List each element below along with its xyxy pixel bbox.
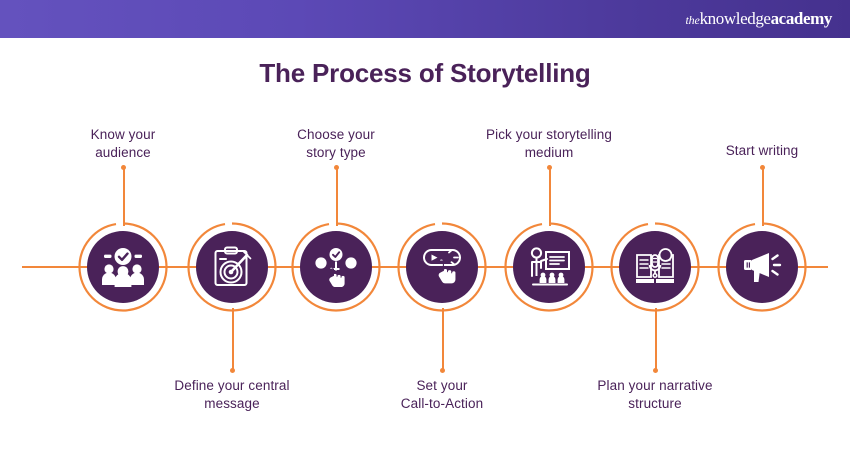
header-bar: theknowledgeacademy [0,0,850,38]
step-disc-1 [87,231,159,303]
infographic-page: theknowledgeacademy The Process of Story… [0,0,850,450]
step-disc-7 [726,231,798,303]
stem-line-2 [232,308,234,370]
step-label-5: Pick your storytelling medium [459,126,639,162]
stem-line-4 [442,308,444,370]
step-node-5[interactable] [504,222,594,312]
step-disc-6 [619,231,691,303]
page-title: The Process of Storytelling [0,58,850,89]
stem-dot-6 [653,368,658,373]
step-node-2[interactable] [187,222,277,312]
step-disc-3 [300,231,372,303]
stem-line-5 [549,168,551,226]
stem-dot-4 [440,368,445,373]
step-label-4-line2: Call-to-Action [362,395,522,413]
step-label-1-line1: Know your [43,126,203,144]
step-label-6-line1: Plan your narrative [570,377,740,395]
stem-dot-2 [230,368,235,373]
step-node-6[interactable] [610,222,700,312]
audience-check-icon [100,247,146,287]
clipboard-target-icon [212,246,252,288]
megaphone-icon [741,250,783,284]
step-label-2-line2: message [147,395,317,413]
stem-line-3 [336,168,338,226]
step-label-7: Start writing [686,142,838,160]
book-microphone-icon [634,247,676,287]
stem-line-7 [762,168,764,226]
step-node-3[interactable] [291,222,381,312]
step-node-4[interactable] [397,222,487,312]
step-disc-2 [196,231,268,303]
step-disc-4 [406,231,478,303]
brand-logo: theknowledgeacademy [686,10,832,28]
step-label-3: Choose your story type [256,126,416,162]
step-label-5-line2: medium [459,144,639,162]
brand-knowledge: knowledge [700,9,771,28]
stem-line-6 [655,308,657,370]
step-label-7-line1: Start writing [686,142,838,160]
step-label-3-line1: Choose your [256,126,416,144]
step-label-2-line1: Define your central [147,377,317,395]
step-label-5-line1: Pick your storytelling [459,126,639,144]
stem-line-1 [123,168,125,226]
hand-select-check-icon [315,247,357,287]
brand-the: the [686,13,700,27]
step-label-6-line2: structure [570,395,740,413]
step-label-1-line2: audience [43,144,203,162]
step-label-3-line2: story type [256,144,416,162]
step-label-6: Plan your narrative structure [570,377,740,413]
step-disc-5 [513,231,585,303]
step-label-4: Set your Call-to-Action [362,377,522,413]
step-node-1[interactable] [78,222,168,312]
step-label-1: Know your audience [43,126,203,162]
step-node-7[interactable] [717,222,807,312]
click-button-icon [421,247,463,287]
presenter-audience-icon [527,247,571,287]
step-label-2: Define your central message [147,377,317,413]
step-label-4-line1: Set your [362,377,522,395]
brand-academy: academy [771,9,832,28]
